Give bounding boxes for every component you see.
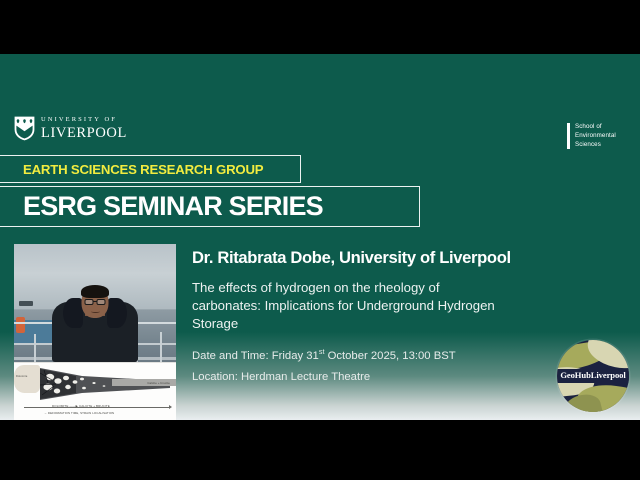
talk-title: The effects of hydrogen on the rheology … [192, 279, 512, 334]
diagram-caption-reaction: DOLOMITE ——▶ CALCITE + BRUCITE [52, 404, 110, 408]
diagram-label-right: Calcite + brucite [147, 381, 170, 385]
photo-person-smile [91, 310, 100, 313]
seminar-slide: UNIVERSITY OF LIVERPOOL School of Enviro… [0, 54, 640, 420]
geohub-label: GeoHubLiverpool [557, 370, 629, 380]
photo-person-glasses-bridge [94, 301, 97, 302]
diagram-protolith-block [14, 365, 40, 393]
school-line-3: Sciences [575, 141, 616, 150]
video-frame: UNIVERSITY OF LIVERPOOL School of Enviro… [0, 0, 640, 480]
media-column: Dolomite Calcite + brucite DOLOMITE ——▶ … [14, 244, 176, 420]
photo-railing-post [160, 332, 162, 362]
seminar-details: Dr. Ritabrata Dobe, University of Liverp… [192, 248, 552, 383]
school-branding: School of Environmental Sciences [567, 123, 616, 149]
page-title: ESRG SEMINAR SERIES [23, 191, 323, 222]
letterbox-bar-top [0, 0, 640, 54]
banner-eyebrow-text: EARTH SCIENCES RESEARCH GROUP [23, 162, 263, 177]
photo-lifebuoy [16, 317, 25, 333]
diagram-caption-axis: → DEFORMATION TIME, STRAIN LOCALISATION [44, 411, 114, 415]
speaker-name: Dr. Ritabrata Dobe, University of Liverp… [192, 248, 552, 268]
photo-person-glasses-right [97, 299, 106, 305]
photo-person [52, 286, 138, 362]
geohub-logo: GeoHubLiverpool [557, 340, 629, 412]
photo-railing-post [34, 334, 36, 362]
photo-person-hood-right [107, 298, 127, 328]
seminar-datetime: Date and Time: Friday 31st October 2025,… [192, 347, 552, 365]
banner-eyebrow-box: EARTH SCIENCES RESEARCH GROUP [0, 155, 301, 183]
speaker-photo [14, 244, 176, 362]
seminar-datetime-rest: October 2025, 13:00 BST [324, 349, 455, 361]
photo-person-hair [81, 285, 109, 298]
liver-bird-shield-icon [14, 116, 35, 141]
university-logo-line1: UNIVERSITY OF [41, 117, 127, 124]
seminar-datetime-label: Date and Time: Friday 31 [192, 349, 319, 361]
letterbox-bar-bottom [0, 420, 640, 480]
photo-person-glasses-left [85, 299, 94, 305]
school-line-2: Environmental [575, 132, 616, 141]
school-accent-bar [567, 123, 570, 149]
photo-distant-boat [19, 301, 33, 306]
seminar-location: Location: Herdman Lecture Theatre [192, 371, 552, 383]
university-logo-line2: LIVERPOOL [41, 126, 127, 141]
diagram-axis-arrow-icon [169, 405, 172, 409]
banner-title-box: ESRG SEMINAR SERIES [0, 186, 420, 227]
school-line-1: School of [575, 123, 616, 132]
diagram-label-left: Dolomite [16, 375, 27, 378]
university-logo: UNIVERSITY OF LIVERPOOL [14, 116, 127, 141]
research-diagram: Dolomite Calcite + brucite DOLOMITE ——▶ … [14, 362, 176, 420]
photo-person-hood-left [63, 298, 83, 328]
